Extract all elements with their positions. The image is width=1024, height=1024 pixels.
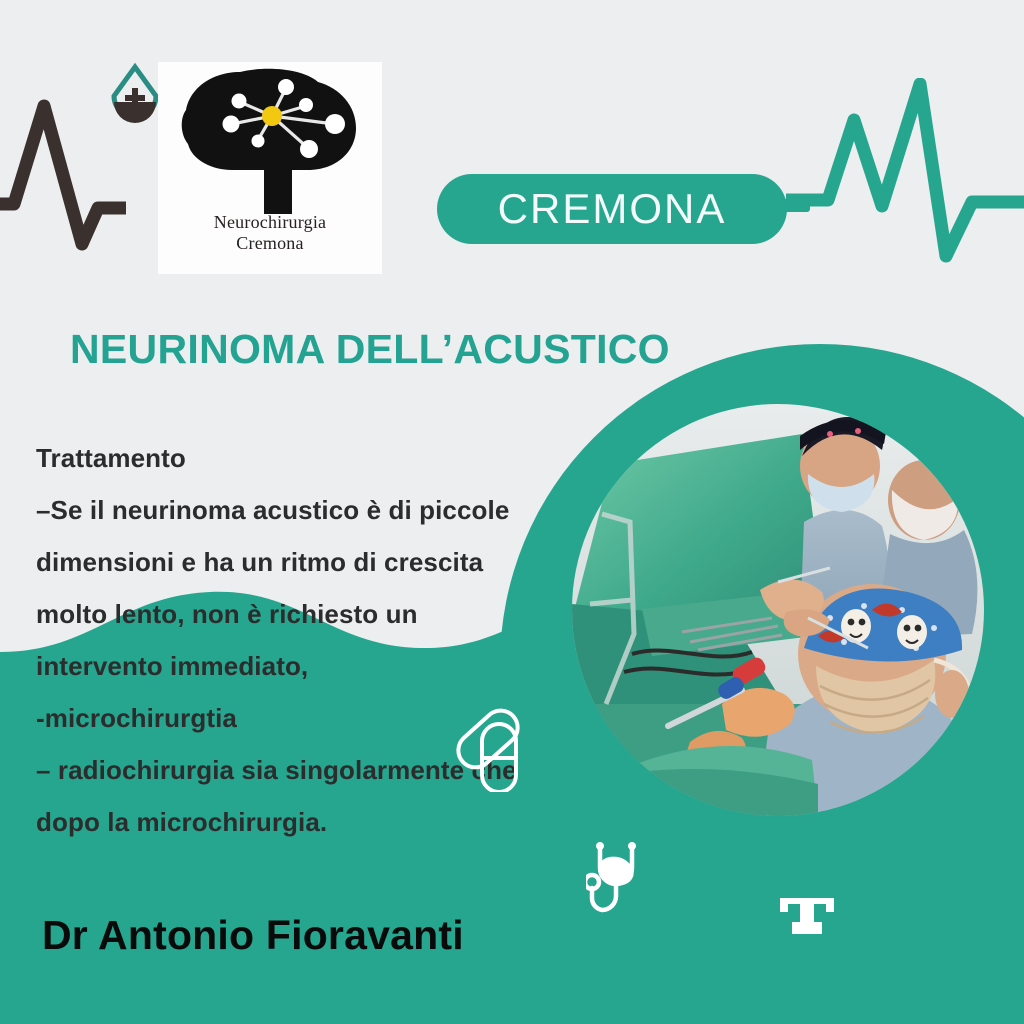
body-line: intervento immediato, xyxy=(36,640,596,692)
doctor-name: Dr Antonio Fioravanti xyxy=(42,912,464,959)
surgery-photo-image xyxy=(572,404,984,816)
body-line: dimensioni e ha un ritmo di crescita xyxy=(36,536,596,588)
capsule-pills-icon xyxy=(452,696,548,792)
logo-wordmark: Neurochirurgia Cremona xyxy=(158,212,382,254)
logo-line-1: Neurochirurgia xyxy=(158,212,382,233)
surgery-photo xyxy=(572,404,984,816)
blood-drop-cross-icon xyxy=(104,62,166,128)
cremona-badge[interactable]: CREMONA xyxy=(437,174,787,244)
brain-network-icon xyxy=(168,66,372,218)
page-title: NEURINOMA DELL’ACUSTICO xyxy=(70,326,670,373)
body-line: molto lento, non è richiesto un xyxy=(36,588,596,640)
clinic-logo: Neurochirurgia Cremona xyxy=(158,62,382,274)
heartbeat-line-icon xyxy=(786,78,1024,278)
body-line: dopo la microchirurgia. xyxy=(36,796,596,848)
stethoscope-icon xyxy=(586,840,660,926)
logo-line-2: Cremona xyxy=(158,233,382,254)
cremona-badge-label: CREMONA xyxy=(498,185,727,233)
poster-canvas: Neurochirurgia Cremona CREMONA NEURINOMA… xyxy=(0,0,1024,1024)
body-line: Trattamento xyxy=(36,432,596,484)
body-line: –Se il neurinoma acustico è di piccole xyxy=(36,484,596,536)
hospital-cross-icon xyxy=(778,896,836,936)
